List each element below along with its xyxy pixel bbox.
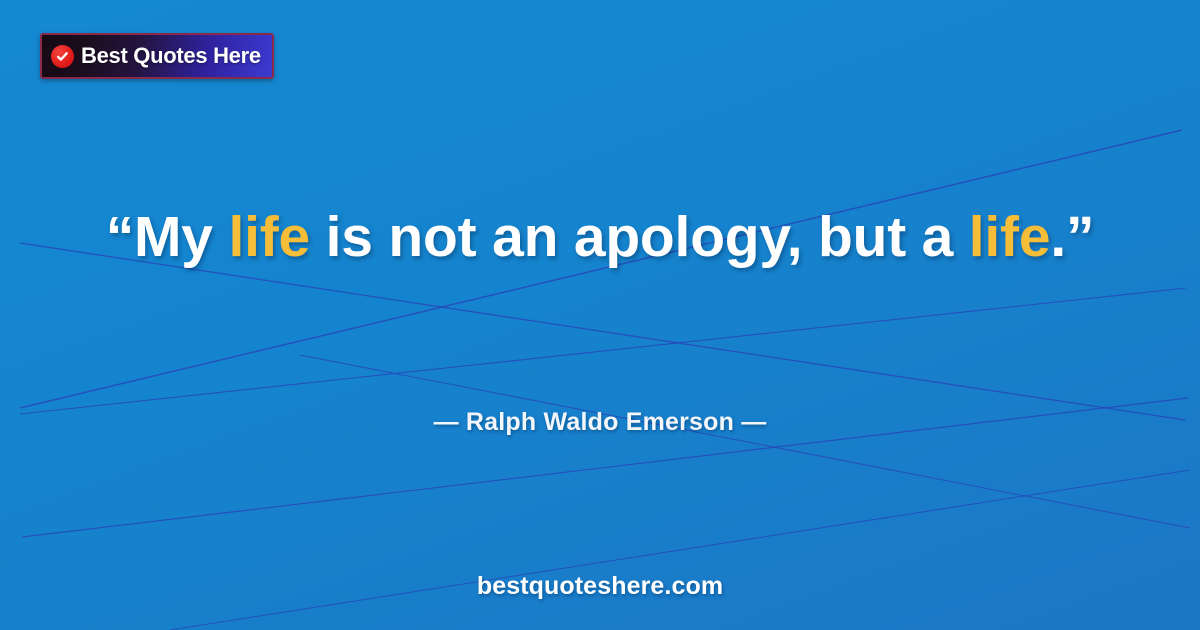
- site-url-text: bestquoteshere.com: [477, 572, 723, 600]
- site-url[interactable]: bestquoteshere.com: [0, 572, 1200, 601]
- quote-open-mark: “: [106, 205, 134, 269]
- quote-close-mark: ”: [1066, 205, 1094, 269]
- decor-line-6: [300, 355, 1190, 528]
- quote-highlight-first: life: [228, 205, 310, 269]
- decor-line-3: [20, 288, 1186, 414]
- quote-line2-post: .: [1050, 205, 1066, 269]
- brand-label: Best Quotes Here: [81, 45, 261, 67]
- decorative-diagonal-lines: [0, 0, 1200, 630]
- quote-block: “My life is not an apology, but a life.”: [0, 196, 1200, 279]
- brand-badge[interactable]: Best Quotes Here: [40, 33, 274, 79]
- quote-text: “My life is not an apology, but a life.”: [100, 196, 1100, 279]
- quote-line1-pre: My: [134, 205, 228, 269]
- quote-line1-post: is not an apology, but a: [310, 205, 953, 269]
- decor-line-5: [170, 470, 1190, 630]
- quote-card: Best Quotes Here “My life is not an apol…: [0, 0, 1200, 630]
- quote-highlight-second: life: [969, 205, 1051, 269]
- check-circle-icon: [51, 45, 74, 68]
- attribution-text: — Ralph Waldo Emerson —: [434, 408, 767, 436]
- attribution: — Ralph Waldo Emerson —: [0, 408, 1200, 437]
